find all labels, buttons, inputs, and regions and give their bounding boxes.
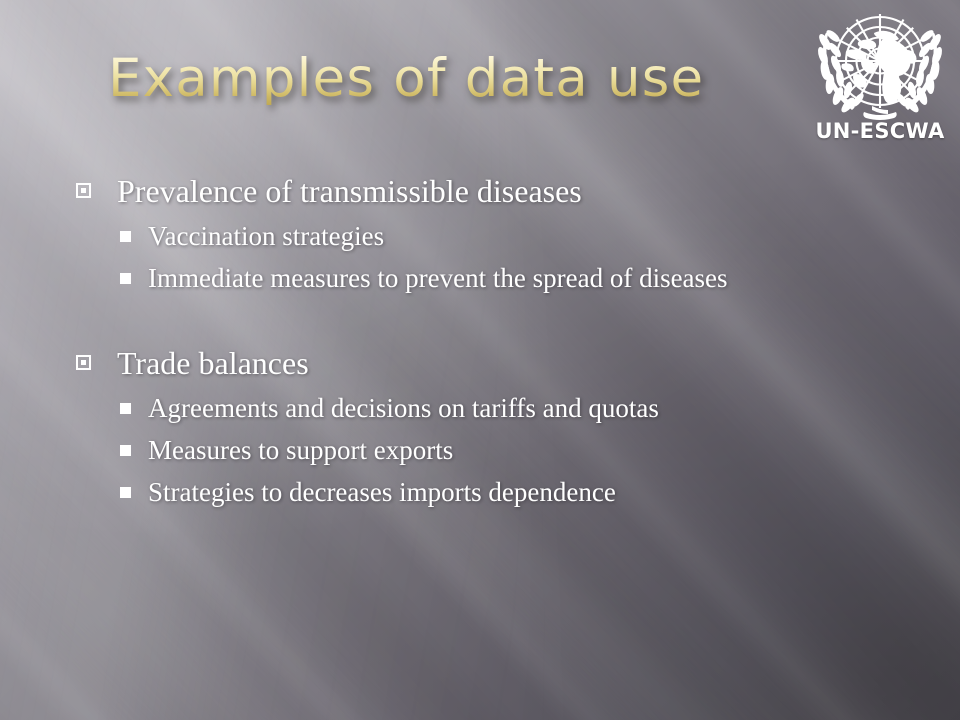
bullet-level2-label: Strategies to decreases imports dependen…	[148, 472, 960, 512]
bullet-level1-label: Prevalence of transmissible diseases	[117, 168, 960, 214]
slide-title: Examples of data use	[108, 52, 704, 105]
bullet-square-filled-icon	[120, 273, 131, 284]
bullet-level2-label: Immediate measures to prevent the spread…	[148, 258, 960, 298]
presentation-slide: Examples of data use	[0, 0, 960, 720]
bullet-square-filled-icon	[120, 403, 131, 414]
bullet-level1: Trade balances	[0, 340, 960, 386]
bullet-level2: Immediate measures to prevent the spread…	[0, 258, 960, 298]
bullet-level1-label: Trade balances	[117, 340, 960, 386]
un-emblem-icon	[812, 6, 948, 124]
bullet-level2: Strategies to decreases imports dependen…	[0, 472, 960, 512]
bullet-level2-label: Agreements and decisions on tariffs and …	[148, 388, 960, 428]
bullet-square-filled-icon	[120, 445, 131, 456]
bullet-square-outline-icon	[76, 355, 91, 370]
bullet-level2: Agreements and decisions on tariffs and …	[0, 388, 960, 428]
bullet-level2: Vaccination strategies	[0, 216, 960, 256]
bullet-square-outline-icon	[76, 183, 91, 198]
bullet-square-filled-icon	[120, 231, 131, 242]
logo-label: UN-ESCWA	[806, 121, 954, 142]
organization-logo: UN-ESCWA	[806, 6, 954, 154]
bullet-square-filled-icon	[120, 487, 131, 498]
bullet-level2-label: Vaccination strategies	[148, 216, 960, 256]
slide-content: Prevalence of transmissible diseases Vac…	[0, 168, 960, 514]
bullet-level2: Measures to support exports	[0, 430, 960, 470]
bullet-level2-label: Measures to support exports	[148, 430, 960, 470]
bullet-level1: Prevalence of transmissible diseases	[0, 168, 960, 214]
